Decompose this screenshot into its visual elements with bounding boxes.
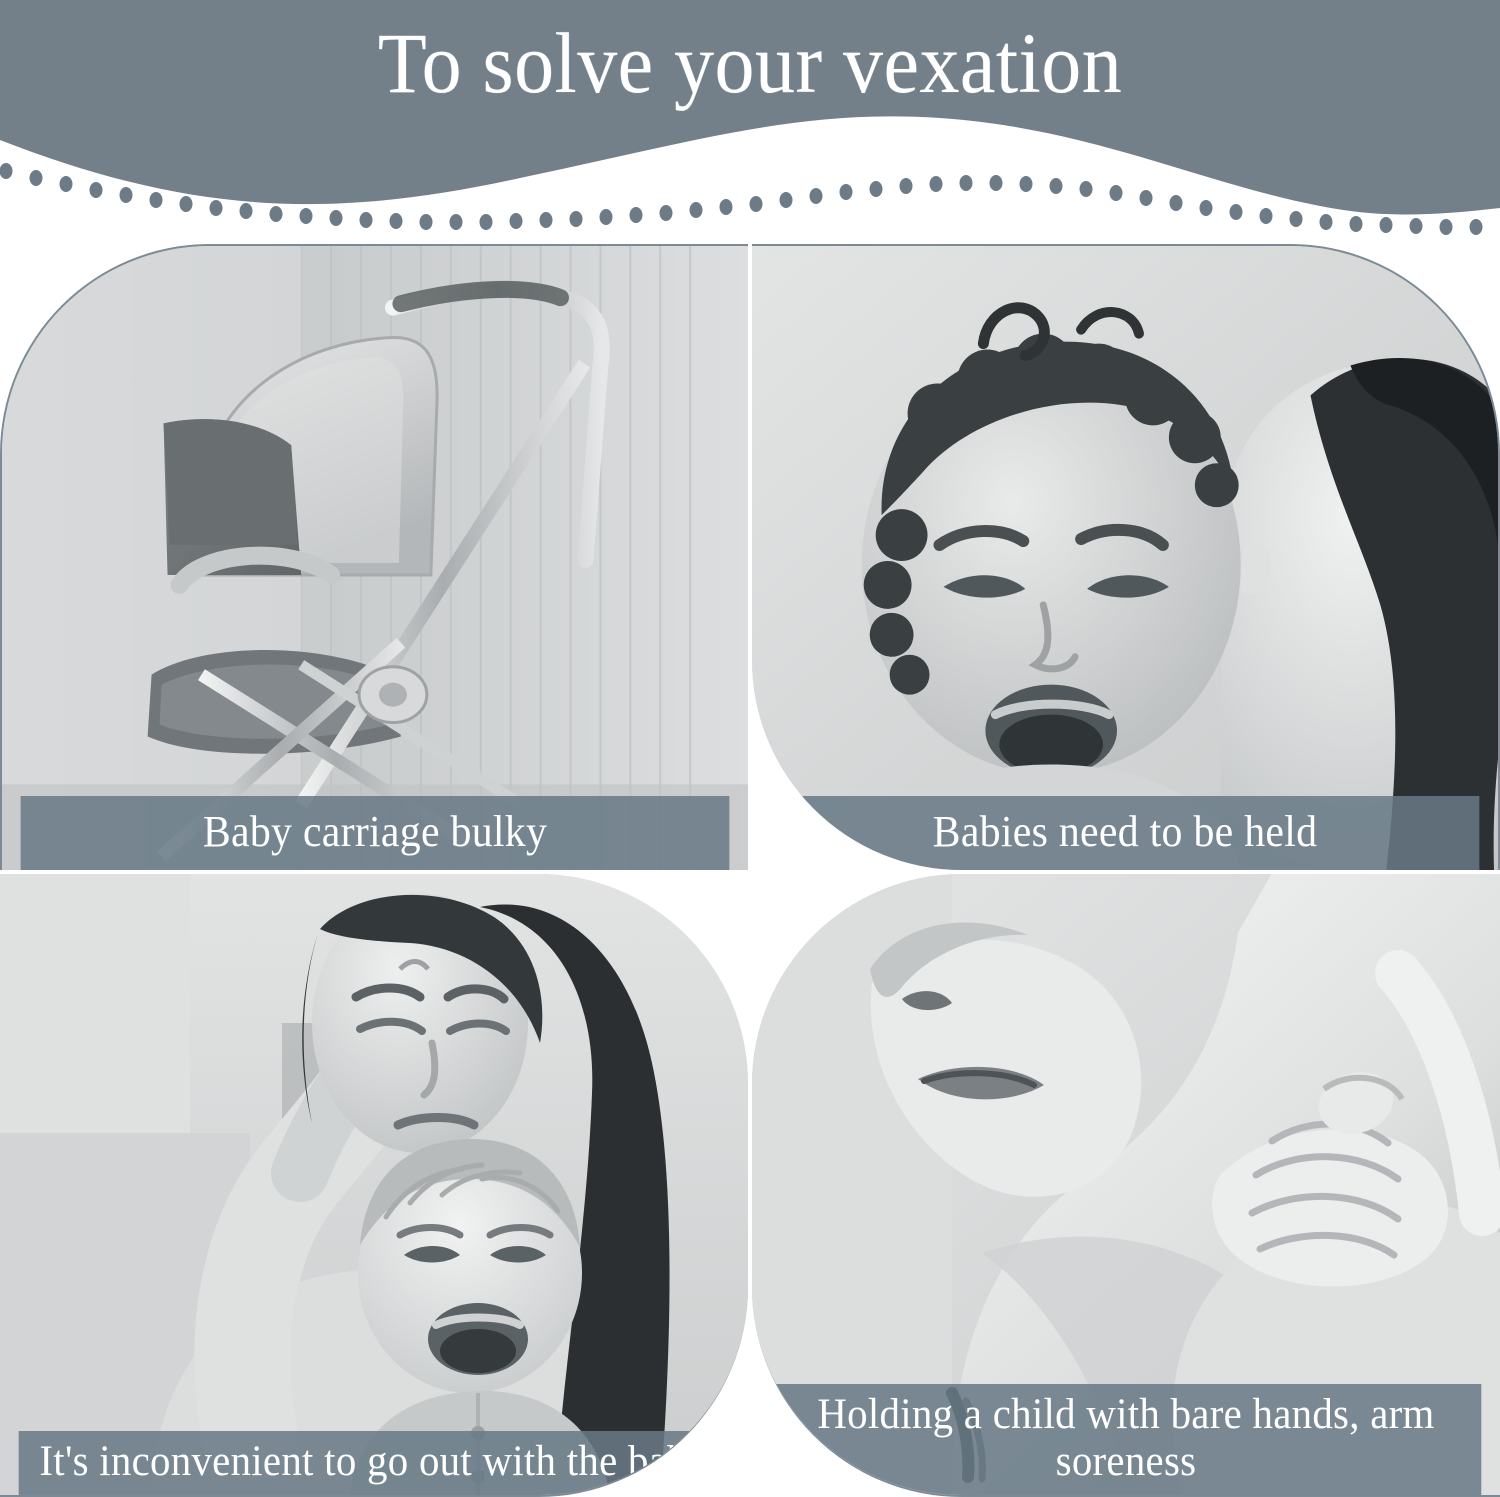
promo-infographic: To solve your vexation (0, 0, 1500, 1497)
panel-caption-baby-carriage-bulky: Baby carriage bulky (21, 796, 730, 870)
panel-arm-soreness[interactable]: Holding a child with bare hands, arm sor… (752, 874, 1500, 1497)
crying-baby-held-photo (752, 246, 1498, 870)
panel-caption-arm-soreness: Holding a child with bare hands, arm sor… (771, 1384, 1482, 1495)
stressed-mother-photo (0, 874, 748, 1495)
panel-caption-inconvenient-to-go-out: It's inconvenient to go out with the bab… (19, 1431, 730, 1495)
problem-panels-grid: Baby carriage bulky (0, 244, 1500, 1497)
panel-baby-carriage-bulky[interactable]: Baby carriage bulky (0, 244, 748, 870)
panel-inconvenient-to-go-out[interactable]: It's inconvenient to go out with the bab… (0, 874, 748, 1497)
panel-babies-need-to-be-held[interactable]: Babies need to be held (752, 244, 1500, 870)
stroller-photo (2, 246, 748, 870)
page-title: To solve your vexation (53, 18, 1448, 108)
panel-caption-babies-need-to-be-held: Babies need to be held (771, 796, 1480, 870)
header-banner: To solve your vexation (0, 0, 1500, 248)
